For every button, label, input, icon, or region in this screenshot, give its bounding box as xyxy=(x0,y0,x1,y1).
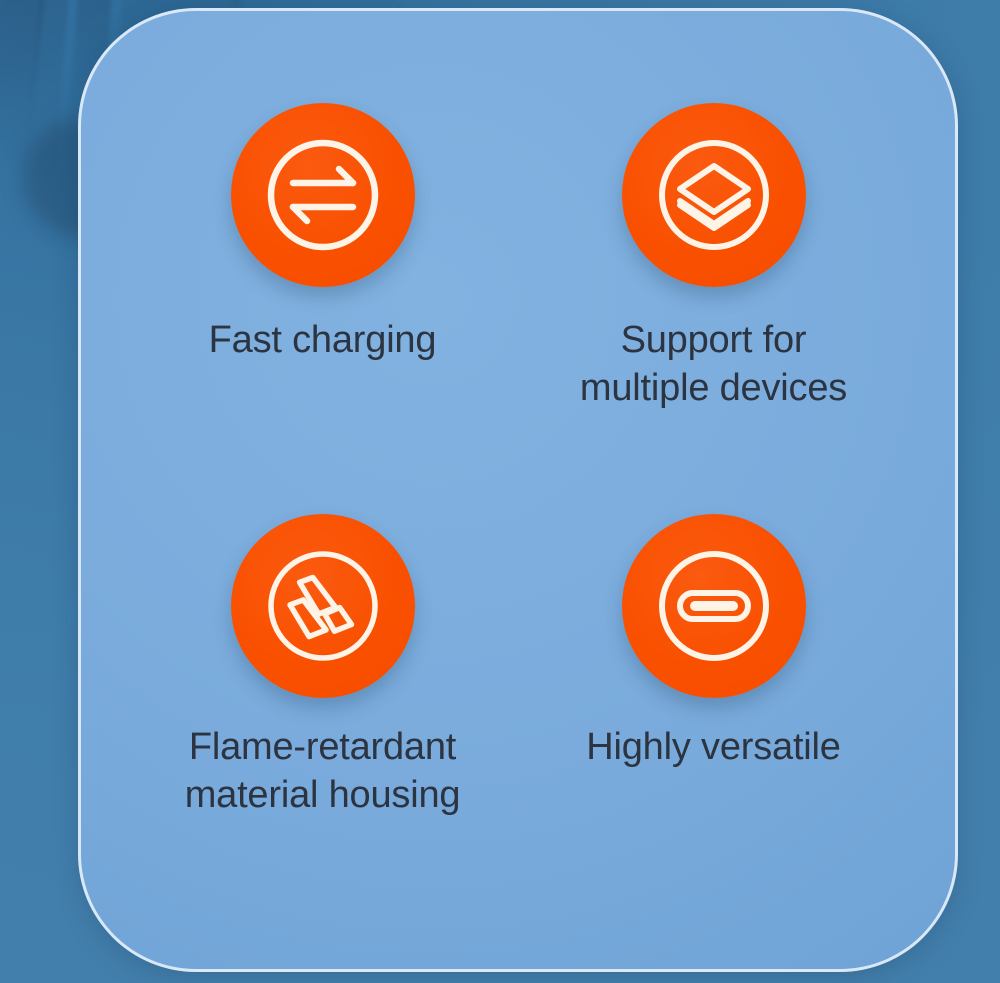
feature-card: Fast charging Support for multiple devic… xyxy=(78,8,958,972)
feature-item-highly-versatile: Highly versatile xyxy=(518,488,909,873)
feature-item-multiple-devices: Support for multiple devices xyxy=(518,103,909,488)
material-ingots-icon xyxy=(231,514,415,698)
usb-c-port-icon xyxy=(622,514,806,698)
feature-label: Highly versatile xyxy=(586,724,840,772)
feature-grid: Fast charging Support for multiple devic… xyxy=(81,11,955,969)
feature-label: Support for multiple devices xyxy=(580,317,847,413)
two-way-arrows-icon xyxy=(231,103,415,287)
feature-item-fast-charging: Fast charging xyxy=(127,103,518,488)
feature-label: Fast charging xyxy=(209,317,437,365)
feature-label: Flame-retardant material housing xyxy=(185,724,461,820)
feature-item-flame-retardant: Flame-retardant material housing xyxy=(127,488,518,873)
feature-highlight-banner: Fast charging Support for multiple devic… xyxy=(0,0,1000,983)
layers-stack-icon xyxy=(622,103,806,287)
